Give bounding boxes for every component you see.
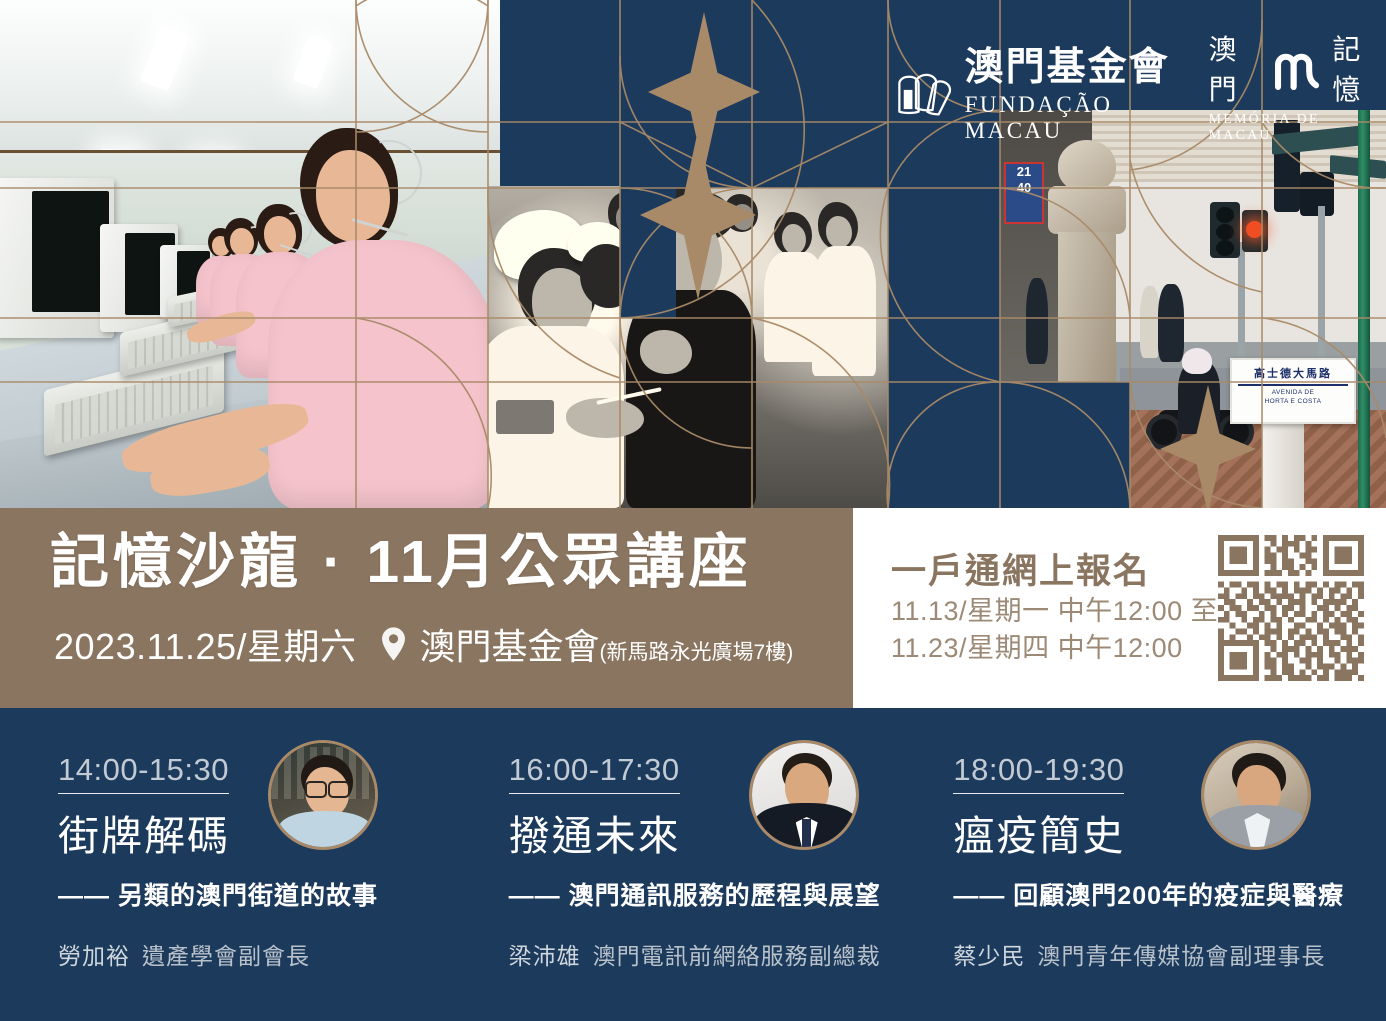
session-list: 14:00-15:30 街牌解碼 —— 另類的澳門街道的故事 勞加裕遺產學會副會… xyxy=(0,708,1386,1021)
session-time: 18:00-19:30 xyxy=(953,752,1124,794)
session-subtitle: —— 另類的澳門街道的故事 xyxy=(58,883,477,911)
blue-sign-line2: 40 xyxy=(1006,180,1042,196)
blue-sign-line1: 21 xyxy=(1006,164,1042,180)
pedestrian xyxy=(1158,284,1184,362)
lamp-post xyxy=(1358,110,1370,508)
fundacao-macau-logo-icon xyxy=(895,67,953,125)
signup-line-2: 11.23/星期四 中午12:00 xyxy=(891,630,1218,666)
navy-block xyxy=(1000,382,1130,508)
title-band: 記憶沙龍 · 11月公眾講座 2023.11.25/星期六 澳門基金會(新馬路永… xyxy=(0,508,1386,708)
signup-text: 一戶通網上報名 11.13/星期一 中午12:00 至 11.23/星期四 中午… xyxy=(891,550,1218,667)
session-title: 街牌解碼 xyxy=(58,816,477,857)
title-band-left: 記憶沙龍 · 11月公眾講座 2023.11.25/星期六 澳門基金會(新馬路永… xyxy=(0,508,853,708)
signup-panel: 一戶通網上報名 11.13/星期一 中午12:00 至 11.23/星期四 中午… xyxy=(853,508,1386,708)
street-sign-pt-1: AVENIDA DE xyxy=(1232,389,1354,398)
session-title: 瘟疫簡史 xyxy=(953,816,1372,857)
speaker-name: 梁沛雄 xyxy=(509,943,581,969)
stone-pillar xyxy=(1048,140,1126,390)
speaker-avatar-3 xyxy=(1201,740,1311,850)
speaker-title: 澳門青年傳媒協會副理事長 xyxy=(1037,943,1325,969)
poster-root: 21 40 xyxy=(0,0,1386,1021)
session-time: 16:00-17:30 xyxy=(509,752,680,794)
photo-call-centre-operators xyxy=(0,0,500,508)
session-card-2: 16:00-17:30 撥通未來 —— 澳門通訊服務的歷程與展望 梁沛雄澳門電訊… xyxy=(491,708,942,1021)
session-card-3: 18:00-19:30 瘟疫簡史 —— 回顧澳門200年的疫症與醫療 蔡少民澳門… xyxy=(941,708,1386,1021)
signup-heading: 一戶通網上報名 xyxy=(891,550,1218,594)
street-blue-sign: 21 40 xyxy=(1004,162,1044,224)
speaker-title: 澳門電訊前網絡服務副總裁 xyxy=(593,943,881,969)
venue-name: 澳門基金會 xyxy=(420,626,600,667)
speaker-avatar-1 xyxy=(268,740,378,850)
session-speaker: 蔡少民澳門青年傳媒協會副理事長 xyxy=(953,937,1372,971)
fm-logo-zh: 澳門基金會 xyxy=(965,48,1187,87)
mm-logo-zh-right: 記憶 xyxy=(1332,28,1386,108)
event-meta: 2023.11.25/星期六 澳門基金會(新馬路永光廣場7樓) xyxy=(54,618,793,670)
mm-logo-zh-left: 澳門 xyxy=(1209,28,1263,108)
speaker-name: 勞加裕 xyxy=(58,943,130,969)
speaker-avatar-2 xyxy=(749,740,859,850)
session-speaker: 梁沛雄澳門電訊前網絡服務副總裁 xyxy=(509,937,928,971)
navy-block xyxy=(888,382,1000,508)
session-subtitle: —— 澳門通訊服務的歷程與展望 xyxy=(509,883,928,911)
mm-logo-pt: MEMÓRIA DE MACAU xyxy=(1209,112,1386,144)
session-subtitle: —— 回顧澳門200年的疫症與醫療 xyxy=(953,883,1372,911)
location-pin-icon xyxy=(381,627,406,661)
pedestrian xyxy=(1140,286,1160,358)
traffic-light-red-icon xyxy=(1242,210,1268,252)
street-sign-pt-2: HORTA E COSTA xyxy=(1232,398,1354,407)
street-nameplate: 高士德大馬路 AVENIDA DE HORTA E COSTA xyxy=(1230,358,1356,424)
memoria-de-macau-logo: 澳門 記憶 MEMÓRIA DE MACAU xyxy=(1209,28,1386,144)
event-date: 2023.11.25/星期六 xyxy=(54,618,357,670)
ceiling xyxy=(0,0,500,150)
traffic-light-icon xyxy=(1300,172,1334,216)
fm-logo-pt: FUNDAÇÃO MACAU xyxy=(965,92,1187,144)
venue-detail: (新馬路永光廣場7樓) xyxy=(600,641,794,664)
helmet-icon xyxy=(1182,348,1212,374)
street-sign-zh: 高士德大馬路 xyxy=(1232,365,1354,381)
session-time: 14:00-15:30 xyxy=(58,752,229,794)
speaker-title: 遺產學會副會長 xyxy=(142,943,310,969)
crt-monitor-icon xyxy=(0,178,114,338)
page-title: 記憶沙龍 · 11月公眾講座 xyxy=(50,533,752,592)
session-title: 撥通未來 xyxy=(509,816,928,857)
fundacao-macau-logo: 澳門基金會 FUNDAÇÃO MACAU xyxy=(895,48,1187,144)
pedestrian xyxy=(1026,278,1048,364)
session-card-1: 14:00-15:30 街牌解碼 —— 另類的澳門街道的故事 勞加裕遺產學會副會… xyxy=(0,708,491,1021)
hero-collage: 21 40 xyxy=(0,0,1386,508)
logo-row: 澳門基金會 FUNDAÇÃO MACAU 澳門 記憶 MEMÓRIA DE MA… xyxy=(895,28,1386,144)
session-speaker: 勞加裕遺產學會副會長 xyxy=(58,937,477,971)
qr-code-icon[interactable] xyxy=(1218,534,1364,682)
event-venue: 澳門基金會(新馬路永光廣場7樓) xyxy=(420,618,794,670)
traffic-light-icon xyxy=(1210,202,1240,258)
memoria-de-macau-m-icon xyxy=(1272,44,1322,92)
signup-line-1: 11.13/星期一 中午12:00 至 xyxy=(891,593,1218,629)
speaker-name: 蔡少民 xyxy=(953,943,1025,969)
